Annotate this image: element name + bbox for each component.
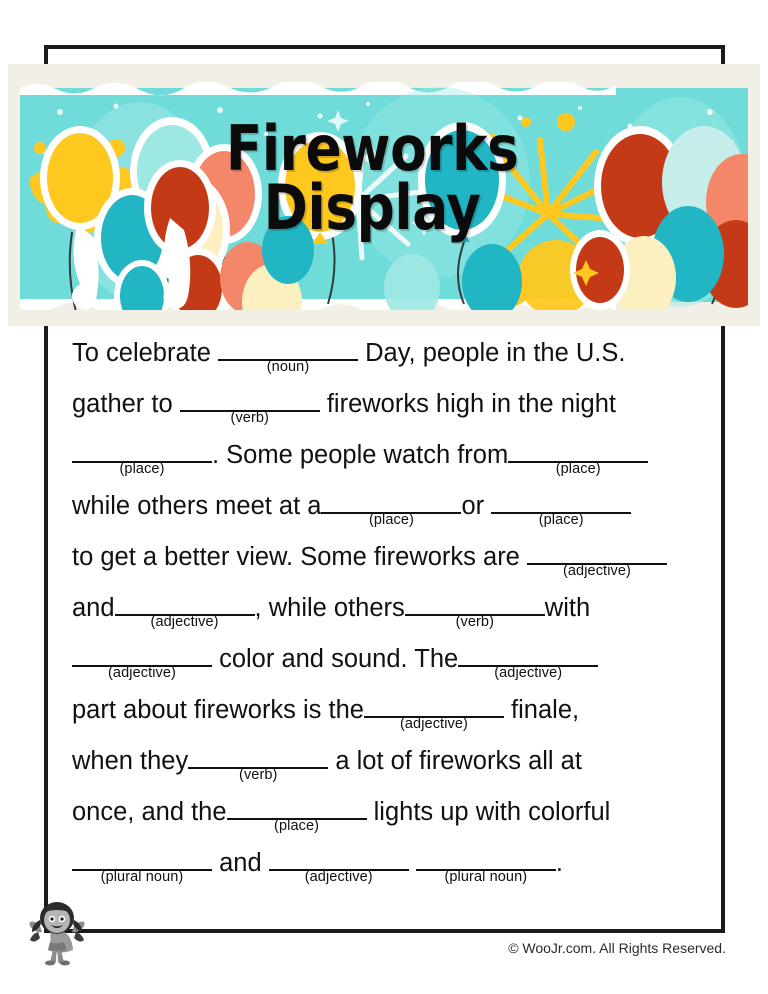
story-text: color and sound. The bbox=[212, 645, 458, 673]
fill-in-blank[interactable]: (place) bbox=[321, 486, 461, 514]
balloon bbox=[570, 230, 630, 310]
balloon bbox=[262, 216, 314, 284]
story-text: to get a better view. Some fireworks are bbox=[72, 543, 527, 571]
blank-hint-label: (adjective) bbox=[108, 666, 176, 681]
worksheet-page: Fireworks Display To celebrate (noun) Da… bbox=[0, 0, 768, 994]
story-line: part about fireworks is the(adjective) f… bbox=[72, 690, 692, 741]
story-line: (place). Some people watch from(place) bbox=[72, 435, 692, 486]
story-line: to get a better view. Some fireworks are… bbox=[72, 537, 692, 588]
story-line: (adjective) color and sound. The(adjecti… bbox=[72, 639, 692, 690]
story-line: when they(verb) a lot of fireworks all a… bbox=[72, 741, 692, 792]
fill-in-blank[interactable]: (adjective) bbox=[115, 588, 255, 616]
story-text: and bbox=[72, 594, 115, 622]
blank-hint-label: (verb) bbox=[239, 768, 277, 783]
story-text: part about fireworks is the bbox=[72, 696, 364, 724]
fill-in-blank[interactable]: (place) bbox=[227, 792, 367, 820]
story-text: , while others bbox=[255, 594, 405, 622]
fill-in-blank[interactable]: (verb) bbox=[405, 588, 545, 616]
blank-hint-label: (adjective) bbox=[305, 870, 373, 885]
balloons-fireworks-artwork bbox=[20, 82, 748, 310]
header-banner: Fireworks Display bbox=[8, 64, 760, 326]
fill-in-blank[interactable]: (place) bbox=[72, 435, 212, 463]
fill-in-blank[interactable]: (noun) bbox=[218, 333, 358, 361]
madlib-story: To celebrate (noun) Day, people in the U… bbox=[72, 333, 692, 894]
story-text: or bbox=[461, 492, 491, 520]
fill-in-blank[interactable]: (adjective) bbox=[269, 843, 409, 871]
blank-hint-label: (noun) bbox=[267, 360, 310, 375]
blank-hint-label: (place) bbox=[369, 513, 414, 528]
fill-in-blank[interactable]: (adjective) bbox=[527, 537, 667, 565]
fill-in-blank[interactable]: (plural noun) bbox=[72, 843, 212, 871]
story-line: To celebrate (noun) Day, people in the U… bbox=[72, 333, 692, 384]
story-text: finale, bbox=[504, 696, 579, 724]
fill-in-blank[interactable]: (adjective) bbox=[458, 639, 598, 667]
story-text: lights up with colorful bbox=[367, 798, 611, 826]
blank-hint-label: (place) bbox=[274, 819, 319, 834]
blank-hint-label: (place) bbox=[539, 513, 584, 528]
story-line: (plural noun) and (adjective) (plural no… bbox=[72, 843, 692, 894]
mascot-girl-icon bbox=[26, 898, 88, 966]
story-text: when they bbox=[72, 747, 188, 775]
fill-in-blank[interactable]: (place) bbox=[491, 486, 631, 514]
story-line: once, and the(place) lights up with colo… bbox=[72, 792, 692, 843]
fill-in-blank[interactable]: (adjective) bbox=[72, 639, 212, 667]
story-text: fireworks high in the night bbox=[320, 390, 616, 418]
story-text bbox=[409, 849, 416, 877]
fill-in-blank[interactable]: (verb) bbox=[188, 741, 328, 769]
story-text: . bbox=[556, 849, 563, 877]
blank-hint-label: (adjective) bbox=[400, 717, 468, 732]
blank-hint-label: (verb) bbox=[231, 411, 269, 426]
blank-hint-label: (place) bbox=[556, 462, 601, 477]
story-line: while others meet at a(place)or (place) bbox=[72, 486, 692, 537]
fill-in-blank[interactable]: (adjective) bbox=[364, 690, 504, 718]
blank-hint-label: (plural noun) bbox=[444, 870, 527, 885]
blank-hint-label: (plural noun) bbox=[101, 870, 184, 885]
fill-in-blank[interactable]: (place) bbox=[508, 435, 648, 463]
story-text: To celebrate bbox=[72, 339, 218, 367]
story-text: a lot of fireworks all at bbox=[328, 747, 582, 775]
story-text: while others meet at a bbox=[72, 492, 321, 520]
copyright-footer: © WooJr.com. All Rights Reserved. bbox=[508, 940, 726, 956]
fill-in-blank[interactable]: (verb) bbox=[180, 384, 320, 412]
story-text: . Some people watch from bbox=[212, 441, 508, 469]
blank-hint-label: (adjective) bbox=[494, 666, 562, 681]
story-text: Day, people in the U.S. bbox=[358, 339, 625, 367]
story-text: with bbox=[545, 594, 590, 622]
blank-hint-label: (place) bbox=[119, 462, 164, 477]
fill-in-blank[interactable]: (plural noun) bbox=[416, 843, 556, 871]
banner-illustration bbox=[20, 82, 748, 310]
blank-hint-label: (verb) bbox=[456, 615, 494, 630]
story-text: and bbox=[212, 849, 269, 877]
story-text: once, and the bbox=[72, 798, 227, 826]
blank-hint-label: (adjective) bbox=[563, 564, 631, 579]
blank-hint-label: (adjective) bbox=[151, 615, 219, 630]
story-line: and(adjective), while others(verb)with bbox=[72, 588, 692, 639]
story-text: gather to bbox=[72, 390, 180, 418]
woojr-mascot bbox=[26, 898, 88, 966]
story-line: gather to (verb) fireworks high in the n… bbox=[72, 384, 692, 435]
